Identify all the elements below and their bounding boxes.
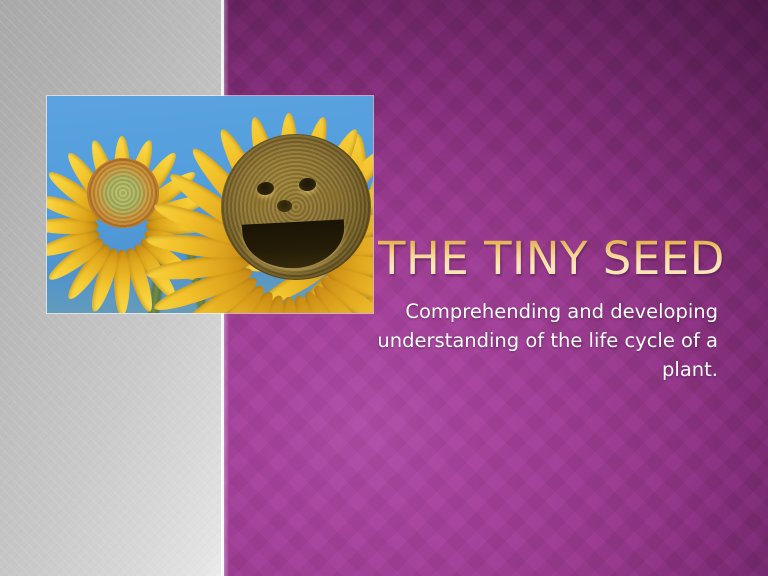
face-shadow-left — [241, 192, 275, 212]
blurred-foreground-flowers — [47, 249, 373, 313]
small-sunflower-center — [87, 158, 159, 228]
sunflower-photo — [47, 96, 373, 313]
slide-title: The Tiny Seed — [378, 236, 750, 282]
presentation-slide: The Tiny Seed The Tiny Seed Comprehendin… — [0, 0, 768, 576]
face-shadow-right — [317, 186, 351, 206]
smiley-nose-icon — [277, 200, 292, 212]
slide-subtitle: Comprehending and developing understandi… — [330, 297, 718, 384]
